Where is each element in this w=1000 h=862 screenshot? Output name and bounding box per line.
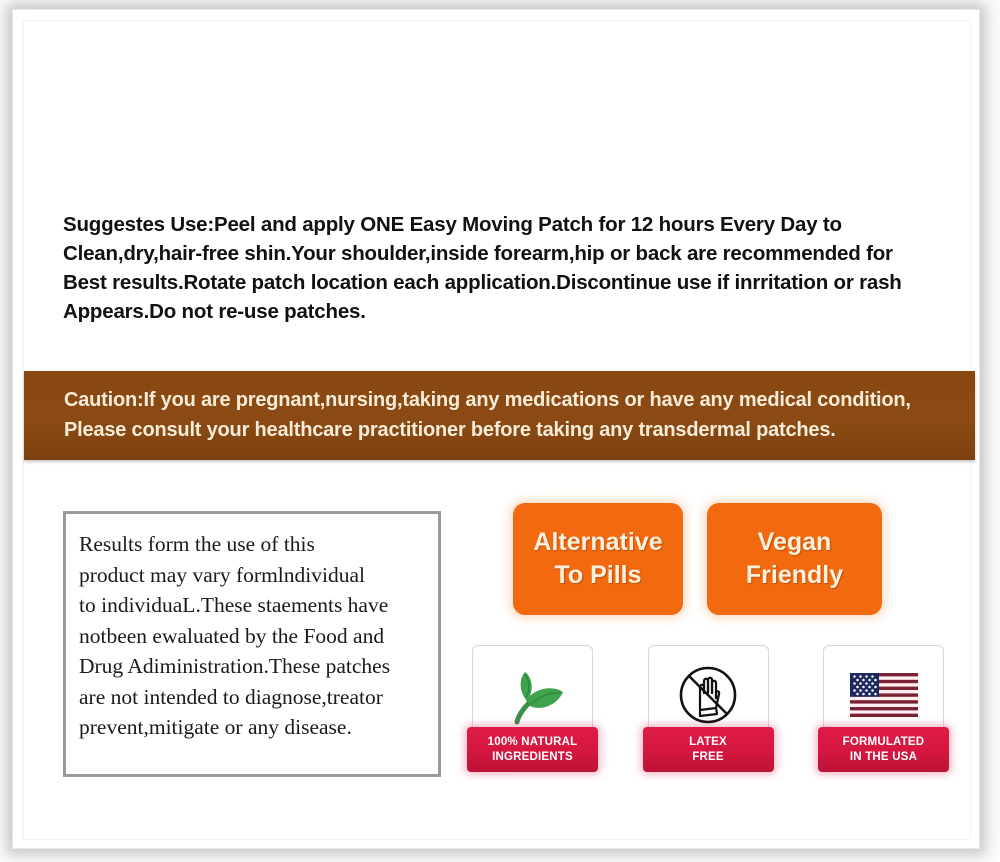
disclaimer-line-5: Drug Adiministration.These patches xyxy=(79,651,431,682)
suggested-use-text: Suggestes Use:Peel and apply ONE Easy Mo… xyxy=(63,210,953,326)
disclaimer-line-7: prevent,mitigate or any disease. xyxy=(79,712,431,743)
usa-flag-icon xyxy=(846,660,922,730)
marketing-badges: Alternative To Pills Vegan Friendly xyxy=(513,503,883,615)
caution-text: Caution:If you are pregnant,nursing,taki… xyxy=(64,385,964,445)
suggested-use-line-3: Best results.Rotate patch location each … xyxy=(63,268,953,297)
suggested-use-line-1: Suggestes Use:Peel and apply ONE Easy Mo… xyxy=(63,210,953,239)
badge-alternative-line-1: Alternative xyxy=(533,526,662,559)
disclaimer-line-6: are not intended to diagnose,treator xyxy=(79,682,431,713)
cert-banner-latex-free: LATEX FREE xyxy=(643,727,774,772)
caution-line-1: Caution:If you are pregnant,nursing,taki… xyxy=(64,385,964,415)
cert-natural-line-1: 100% NATURAL xyxy=(488,735,578,750)
no-latex-glove-icon xyxy=(670,660,746,730)
disclaimer-line-1: Results form the use of this xyxy=(79,529,431,560)
caution-line-2: Please consult your healthcare practitio… xyxy=(64,415,964,445)
cert-latex-line-2: FREE xyxy=(692,750,723,765)
cert-usa-line-2: IN THE USA xyxy=(850,750,917,765)
product-label: Suggestes Use:Peel and apply ONE Easy Mo… xyxy=(0,0,1000,862)
disclaimer-line-2: product may vary formlndividual xyxy=(79,560,431,591)
badge-vegan-line-2: Friendly xyxy=(746,559,843,592)
caution-band: Caution:If you are pregnant,nursing,taki… xyxy=(24,371,975,460)
badge-alternative-line-2: To Pills xyxy=(554,559,641,592)
suggested-use-line-4: Appears.Do not re-use patches. xyxy=(63,297,953,326)
disclaimer-box: Results form the use of this product may… xyxy=(63,511,441,777)
cert-badge-natural-ingredients: 100% NATURAL INGREDIENTS xyxy=(467,645,598,772)
suggested-use-line-2: Clean,dry,hair-free shin.Your shoulder,i… xyxy=(63,239,953,268)
cert-badge-formulated-usa: FORMULATED IN THE USA xyxy=(818,645,949,772)
disclaimer-line-3: to individuaL.These staements have xyxy=(79,590,431,621)
cert-latex-line-1: LATEX xyxy=(689,735,727,750)
certification-badges: 100% NATURAL INGREDIENTS xyxy=(467,645,949,772)
badge-alternative-to-pills: Alternative To Pills xyxy=(513,503,683,615)
disclaimer-line-4: notbeen ewaluated by the Food and xyxy=(79,621,431,652)
badge-vegan-line-1: Vegan xyxy=(758,526,832,559)
cert-badge-latex-free: LATEX FREE xyxy=(643,645,774,772)
leaves-icon xyxy=(495,660,571,730)
disclaimer-text: Results form the use of this product may… xyxy=(79,529,431,743)
cert-usa-line-1: FORMULATED xyxy=(843,735,925,750)
cert-natural-line-2: INGREDIENTS xyxy=(492,750,573,765)
badge-vegan-friendly: Vegan Friendly xyxy=(707,503,882,615)
cert-banner-formulated-usa: FORMULATED IN THE USA xyxy=(818,727,949,772)
cert-banner-natural-ingredients: 100% NATURAL INGREDIENTS xyxy=(467,727,598,772)
